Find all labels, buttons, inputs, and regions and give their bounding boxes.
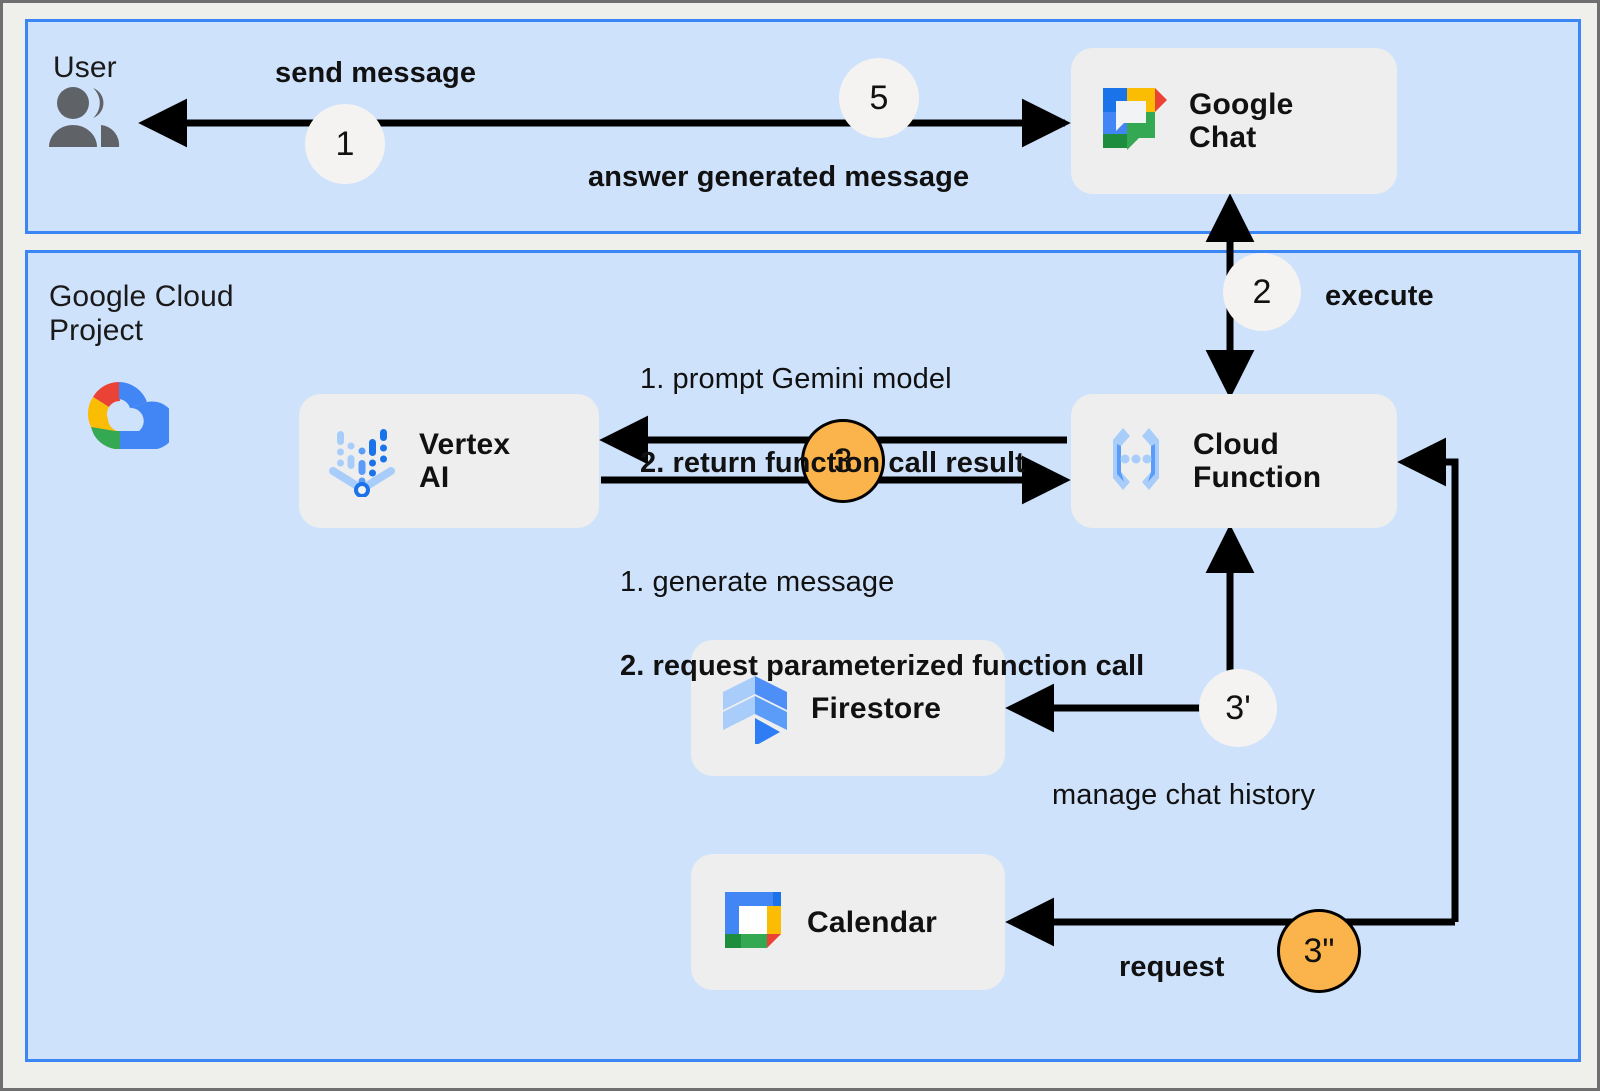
architecture-diagram: User Google Cloud Project [0,0,1600,1091]
step-badge-2: 2 [1223,253,1301,331]
node-cloud-function[interactable]: Cloud Function [1071,394,1397,528]
edge-label-request: request [1119,946,1224,988]
step-badge-5: 5 [839,58,919,138]
step-badge-1: 1 [305,104,385,184]
google-chat-icon [1097,82,1171,161]
edge-label-generate-line-1: 1. generate message [620,566,894,598]
step-badge-3-double-prime: 3" [1277,909,1361,993]
edge-label-answer-generated-message: answer generated message [588,156,969,198]
edge-label-prompt-line-2: 2. return function call result [640,447,1025,479]
node-firestore-label: Firestore [811,692,941,725]
edge-label-execute: execute [1325,275,1434,317]
node-google-chat[interactable]: Google Chat [1071,48,1397,194]
node-google-chat-label: Google Chat [1189,88,1294,154]
node-cloud-function-label: Cloud Function [1193,428,1321,494]
google-cloud-icon [69,376,169,465]
users-icon [43,85,127,156]
node-vertex-ai-label: Vertex AI [419,428,510,494]
edge-label-vertex-lower: 1. generate message 2. request parameter… [620,519,1144,687]
node-vertex-ai[interactable]: Vertex AI [299,394,599,528]
panel-google-cloud-project-title: Google Cloud Project [49,280,234,347]
node-google-calendar[interactable]: Calendar [691,854,1005,990]
edge-label-generate-line-2: 2. request parameterized function call [620,650,1144,682]
edge-label-vertex-upper: 1. prompt Gemini model 2. return functio… [640,316,1025,484]
node-google-calendar-label: Calendar [807,906,937,939]
edge-label-prompt-line-1: 1. prompt Gemini model [640,363,952,395]
edge-label-send-message: send message [275,52,476,94]
step-badge-3-prime: 3' [1199,669,1277,747]
panel-user-title: User [53,51,117,85]
cloud-function-icon [1097,420,1175,503]
google-calendar-icon [717,884,789,961]
edge-label-manage-chat-history: manage chat history [1052,774,1315,816]
vertex-ai-icon [325,421,401,502]
